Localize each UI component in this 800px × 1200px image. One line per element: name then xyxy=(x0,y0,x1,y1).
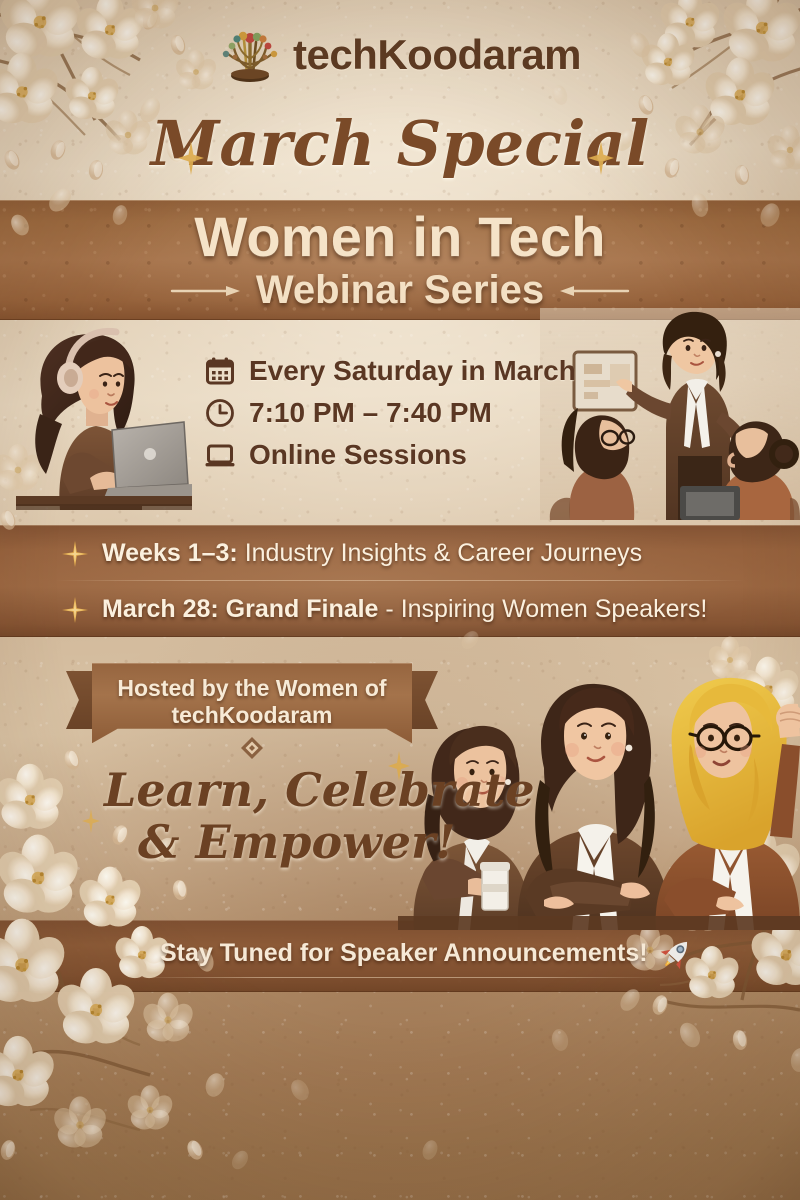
event-details-list: Every Saturday in March 7:10 PM – 7:40 P… xyxy=(205,355,576,471)
diamond-ornament-icon xyxy=(241,737,263,759)
highlight-text-finale: March 28: Grand Finale - Inspiring Women… xyxy=(102,595,707,624)
presentation-meeting-illustration xyxy=(540,308,800,520)
title-word-in: in xyxy=(412,205,462,268)
detail-row-time: 7:10 PM – 7:40 PM xyxy=(205,397,576,429)
title-word-tech: Tech xyxy=(478,205,605,268)
detail-text-time: 7:10 PM – 7:40 PM xyxy=(249,397,492,429)
detail-row-date: Every Saturday in March xyxy=(205,355,576,387)
detail-text-format: Online Sessions xyxy=(249,439,467,471)
clock-icon xyxy=(205,398,235,428)
page-title: Women in Tech xyxy=(0,208,800,266)
footer-inner: Stay Tuned for Speaker Announcements! xyxy=(160,936,694,970)
sparkle-icon-cta-left xyxy=(82,809,100,833)
ribbon-line-2: techKoodaram xyxy=(108,702,396,729)
highlight-desc-finale: - Inspiring Women Speakers! xyxy=(385,595,707,623)
script-title-text: March Special xyxy=(151,107,649,180)
cta-line-2: & Empower! xyxy=(104,817,534,869)
host-ribbon: Hosted by the Women of techKoodaram xyxy=(92,663,412,743)
starburst-icon-weeks xyxy=(62,541,88,567)
calendar-icon xyxy=(205,356,235,386)
title-word-women: Women xyxy=(194,205,396,268)
rocket-icon xyxy=(660,936,694,970)
highlights-list: Weeks 1–3: Industry Insights & Career Jo… xyxy=(0,525,800,637)
footer-text: Stay Tuned for Speaker Announcements! xyxy=(160,939,648,968)
woman-with-laptop-illustration xyxy=(16,318,192,510)
highlight-text-weeks: Weeks 1–3: Industry Insights & Career Jo… xyxy=(102,539,642,568)
right-ornament-icon xyxy=(558,284,630,298)
highlight-row-weeks: Weeks 1–3: Industry Insights & Career Jo… xyxy=(62,539,642,568)
brand-logo: techKoodaram xyxy=(0,24,800,86)
tree-logo-icon xyxy=(219,24,281,86)
script-title: March Special xyxy=(0,113,800,175)
cta-line-1: Learn, Celebrate xyxy=(104,765,534,817)
detail-row-format: Online Sessions xyxy=(205,439,576,471)
cta-script-text: Learn, Celebrate & Empower! xyxy=(104,765,534,868)
detail-text-date: Every Saturday in March xyxy=(249,355,576,387)
laptop-icon xyxy=(205,440,235,470)
brand-name: techKoodaram xyxy=(293,31,581,79)
starburst-icon-finale xyxy=(62,597,88,623)
highlight-label-weeks: Weeks 1–3: xyxy=(102,539,238,567)
footer-announcement: Stay Tuned for Speaker Announcements! xyxy=(0,920,800,992)
highlight-desc-weeks: Industry Insights & Career Journeys xyxy=(245,539,642,567)
subtitle: Webinar Series xyxy=(0,268,800,313)
left-ornament-icon xyxy=(170,284,242,298)
poster-canvas: techKoodaram March Special Women in Tech… xyxy=(0,0,800,1200)
ribbon-line-1: Hosted by the Women of xyxy=(108,675,396,702)
highlight-label-finale: March 28: Grand Finale xyxy=(102,595,378,623)
ribbon-body: Hosted by the Women of techKoodaram xyxy=(92,663,412,743)
highlight-row-finale: March 28: Grand Finale - Inspiring Women… xyxy=(62,595,707,624)
subtitle-text: Webinar Series xyxy=(256,268,544,313)
